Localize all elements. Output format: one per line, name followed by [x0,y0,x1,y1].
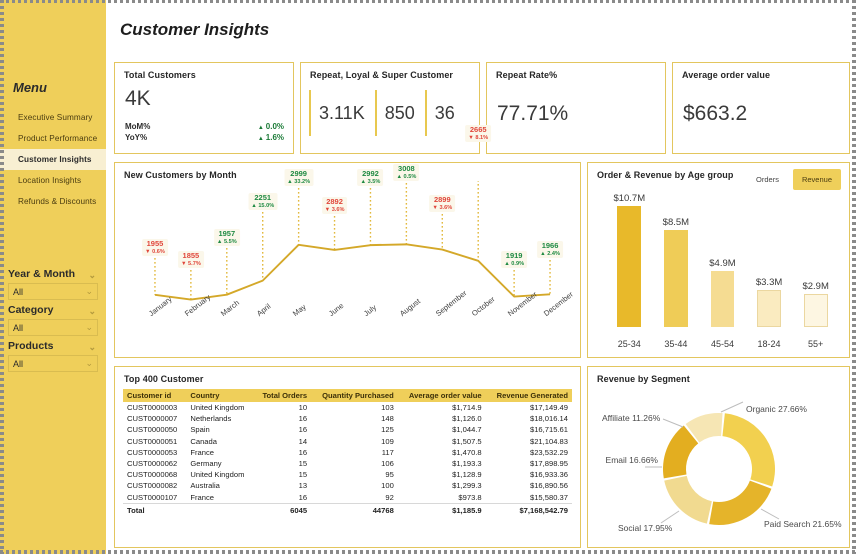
table-row[interactable]: CUST0000003United Kingdom10103$1,714.9$1… [123,402,572,413]
line-data-label: 1966▲ 2.4% [537,241,563,258]
kpi-loyal-cell: 850 [375,90,425,136]
filter-products-select[interactable]: All ⌄ [8,355,98,372]
table-cell: $1,126.0 [398,413,486,424]
line-data-label: 2665▼ 8.1% [465,125,491,142]
kpi-average-order-value: Average order value $663.2 [672,62,850,154]
line-data-label: 1955▼ 0.6% [142,239,168,256]
bar-value-label: $8.5M [663,217,689,228]
table-row[interactable]: CUST0000007Netherlands16148$1,126.0$18,0… [123,413,572,424]
kpi-repeat-rate: Repeat Rate% 77.71% [486,62,666,154]
bar-column[interactable]: $4.9M [703,193,743,327]
table-cell: 14 [254,436,311,447]
line-data-label: 3008▲ 0.5% [393,164,419,181]
kpi-yoy-delta: 1.6% [258,132,284,144]
chart-new-customers-by-month: New Customers by Month 1955▼ 0.6%1855▼ 5… [114,162,581,358]
line-label-pct: ▲ 2.4% [540,251,560,257]
kpi-repeat-value: 3.11K [319,103,365,124]
line-label-pct: ▼ 3.6% [432,205,452,211]
bar-rect [664,230,688,327]
table-column-header[interactable]: Revenue Generated [486,389,572,402]
line-label-value: 3008 [396,165,416,174]
kpi-total-customers-value: 4K [115,80,293,111]
line-label-pct: ▲ 3.5% [361,179,381,185]
customer-table: Customer idCountryTotal OrdersQuantity P… [123,389,572,516]
chevron-down-icon[interactable]: ⌄ [88,306,96,317]
kpi-total-customers: Total Customers 4K MoM% 0.0% YoY% 1.6% [114,62,294,154]
filter-year-month-value: All [13,287,23,297]
chart-order-revenue-by-age: Order & Revenue by Age group Orders Reve… [587,162,850,358]
bar-category-label: 55+ [796,339,836,349]
filter-year-month-select[interactable]: All ⌄ [8,283,98,300]
chart-revenue-segment-title: Revenue by Segment [588,367,849,384]
table-cell: Spain [186,424,254,435]
filter-category: Category ⌄ All ⌄ [0,304,106,336]
kpi-repeat-loyal-super-title: Repeat, Loyal & Super Customer [301,63,479,80]
table-cell: 16 [254,424,311,435]
kpi-mom-delta: 0.0% [258,121,284,133]
bar-column[interactable]: $8.5M [656,193,696,327]
kpi-repeat-loyal-super-values: 3.11K 850 36 [301,90,479,136]
bar-category-label: 18-24 [749,339,789,349]
line-label-value: 1957 [217,230,237,239]
table-cell: 15 [254,469,311,480]
table-cell: 117 [311,447,398,458]
bar-rect [617,206,641,327]
chevron-down-icon[interactable]: ⌄ [88,270,96,281]
table-cell: $15,580.37 [486,492,572,504]
table-cell: France [186,447,254,458]
bar-rect [804,294,828,327]
table-cell: CUST0000003 [123,402,186,413]
chart-legend-toggle: Orders Revenue [747,169,841,190]
kpi-mom-label: MoM% [125,121,150,133]
table-total-cell: Total [123,503,186,516]
table-cell: $1,507.5 [398,436,486,447]
chart-revenue-by-segment: Revenue by Segment Organic 27.66%Paid Se… [587,366,850,548]
table-cell: $16,933.36 [486,469,572,480]
donut-segment-label: Email 16.66% [588,455,658,466]
table-cell: 100 [311,480,398,491]
table-cell: 95 [311,469,398,480]
filter-products-label: Products ⌄ [8,340,98,352]
table-title: Top 400 Customer [115,367,580,384]
page-border-top [0,0,856,3]
filter-products-text: Products [8,340,54,352]
table-cell: $1,044.7 [398,424,486,435]
kpi-average-order-value-title: Average order value [673,63,849,80]
table-cell: CUST0000082 [123,480,186,491]
table-body: CUST0000003United Kingdom10103$1,714.9$1… [123,402,572,516]
filter-year-month-text: Year & Month [8,268,75,280]
kpi-super-cell: 36 [425,90,465,136]
table-cell: 109 [311,436,398,447]
sidebar-item-location-insights[interactable]: Location Insights [0,170,106,191]
table-cell: 148 [311,413,398,424]
line-label-value: 2665 [468,126,488,135]
bar-rect [711,271,735,327]
table-cell: France [186,492,254,504]
table-row[interactable]: CUST0000051Canada14109$1,507.5$21,104.83 [123,436,572,447]
table-cell: $1,128.9 [398,469,486,480]
page-border-bottom [0,550,856,554]
table-cell: 103 [311,402,398,413]
table-cell: Canada [186,436,254,447]
sidebar: Menu Executive Summary Product Performan… [0,0,106,554]
chevron-down-icon[interactable]: ⌄ [88,342,96,353]
table-cell: CUST0000053 [123,447,186,458]
table-total-row: Total604544768$1,185.9$7,168,542.79 [123,503,572,516]
line-label-value: 2892 [325,198,345,207]
table-row[interactable]: CUST0000062Germany15106$1,193.3$17,898.9… [123,458,572,469]
line-label-pct: ▲ 0.5% [396,174,416,180]
table-cell: CUST0000107 [123,492,186,504]
donut-segment-label: Social 17.95% [618,523,672,534]
table-top-400-customer: Top 400 Customer Customer idCountryTotal… [114,366,581,548]
legend-button-revenue[interactable]: Revenue [793,169,841,190]
chevron-down-icon: ⌄ [85,358,93,369]
chart-new-customers-title: New Customers by Month [115,163,580,180]
line-label-value: 1955 [145,240,165,249]
line-label-pct: ▲ 5.5% [217,239,237,245]
chevron-down-icon: ⌄ [85,322,93,333]
bar-chart-x-axis: 25-3435-4445-5418-2455+ [606,339,839,349]
table-cell: 16 [254,492,311,504]
table-row[interactable]: CUST0000068United Kingdom1595$1,128.9$16… [123,469,572,480]
kpi-average-order-value-value: $663.2 [673,80,849,126]
bar-column[interactable]: $10.7M [609,193,649,327]
line-label-pct: ▼ 0.6% [145,249,165,255]
table-cell: $973.8 [398,492,486,504]
line-data-label: 1957▲ 5.5% [214,229,240,246]
line-data-label: 2992▲ 3.5% [358,169,384,186]
table-header-row: Customer idCountryTotal OrdersQuantity P… [123,389,572,402]
donut-segment-label: Paid Search 21.65% [764,519,842,530]
line-data-label: 1919▲ 0.9% [501,251,527,268]
table-cell: CUST0000062 [123,458,186,469]
table-column-header[interactable]: Quantity Purchased [311,389,398,402]
kpi-repeat-loyal-super: Repeat, Loyal & Super Customer 3.11K 850… [300,62,480,154]
filter-year-month-label: Year & Month ⌄ [8,268,98,280]
line-label-value: 2992 [361,170,381,179]
line-label-pct: ▼ 5.7% [181,261,201,267]
donut-chart-plot: Organic 27.66%Paid Search 21.65%Social 1… [588,383,849,547]
line-label-value: 1919 [504,252,524,261]
table-cell: $21,104.83 [486,436,572,447]
table-cell: $1,193.3 [398,458,486,469]
bar-value-label: $4.9M [709,258,735,269]
filter-products: Products ⌄ All ⌄ [0,340,106,372]
table-scroll-area[interactable]: Customer idCountryTotal OrdersQuantity P… [123,389,572,543]
table-cell: 16 [254,413,311,424]
filter-products-value: All [13,359,23,369]
table-total-cell [186,503,254,516]
kpi-yoy-label: YoY% [125,132,147,144]
table-cell: $17,149.49 [486,402,572,413]
line-label-value: 1855 [181,252,201,261]
line-label-pct: ▲ 0.9% [504,261,524,267]
sidebar-item-customer-insights[interactable]: Customer Insights [0,149,106,170]
donut-segment-label: Organic 27.66% [746,404,807,415]
line-label-pct: ▲ 15.0% [251,203,274,209]
table-cell: $1,714.9 [398,402,486,413]
sidebar-item-product-performance[interactable]: Product Performance [0,128,106,149]
table-cell: CUST0000007 [123,413,186,424]
table-header: Customer idCountryTotal OrdersQuantity P… [123,389,572,402]
bar-value-label: $3.3M [756,277,782,288]
table-row[interactable]: CUST0000050Spain16125$1,044.7$16,715.61 [123,424,572,435]
bar-value-label: $2.9M [802,281,828,292]
table-cell: 106 [311,458,398,469]
table-cell: $18,016.14 [486,413,572,424]
table-row[interactable]: CUST0000107France1692$973.8$15,580.37 [123,492,572,504]
table-cell: Australia [186,480,254,491]
kpi-mom-row: MoM% 0.0% [125,121,284,133]
table-total-cell: $1,185.9 [398,503,486,516]
table-cell: CUST0000068 [123,469,186,480]
table-cell: $23,532.29 [486,447,572,458]
table-cell: $1,470.8 [398,447,486,458]
filter-category-value: All [13,323,23,333]
kpi-loyal-value: 850 [385,103,415,124]
line-data-label: 2251▲ 15.0% [248,193,277,210]
table-cell: United Kingdom [186,402,254,413]
table-cell: 13 [254,480,311,491]
table-cell: $16,715.61 [486,424,572,435]
table-column-header[interactable]: Country [186,389,254,402]
table-row[interactable]: CUST0000082Australia13100$1,299.3$16,890… [123,480,572,491]
bar-column[interactable]: $2.9M [796,193,836,327]
kpi-yoy-row: YoY% 1.6% [125,132,284,144]
page-title: Customer Insights [112,0,848,40]
filter-category-text: Category [8,304,54,316]
line-label-pct: ▲ 33.2% [287,179,310,185]
sidebar-item-refunds-discounts[interactable]: Refunds & Discounts [0,191,106,212]
kpi-total-customers-deltas: MoM% 0.0% YoY% 1.6% [125,121,284,144]
bar-value-label: $10.7M [613,193,645,204]
table-cell: $17,898.95 [486,458,572,469]
line-label-value: 2999 [287,170,310,179]
line-chart-x-axis: JanuaryFebruaryMarchAprilMayJuneJulyAugu… [115,307,580,351]
filter-category-label: Category ⌄ [8,304,98,316]
line-label-pct: ▼ 3.6% [325,207,345,213]
line-chart-plot: 1955▼ 0.6%1855▼ 5.7%1957▲ 5.5%2251▲ 15.0… [115,181,580,357]
filter-year-month: Year & Month ⌄ All ⌄ [0,268,106,300]
line-data-label: 2899▼ 3.6% [429,195,455,212]
main-content: Customer Insights Total Customers 4K MoM… [106,0,856,554]
table-cell: 16 [254,447,311,458]
table-cell: CUST0000051 [123,436,186,447]
kpi-total-customers-title: Total Customers [115,63,293,80]
bar-category-label: 45-54 [703,339,743,349]
bar-rect [757,290,781,327]
table-column-header[interactable]: Average order value [398,389,486,402]
kpi-repeat-rate-title: Repeat Rate% [487,63,665,80]
bar-category-label: 25-34 [609,339,649,349]
line-label-value: 1966 [540,242,560,251]
menu-title: Menu [0,80,106,95]
bar-chart-columns: $10.7M$8.5M$4.9M$3.3M$2.9M [606,193,839,327]
line-data-label: 2999▲ 33.2% [284,169,313,186]
filter-category-select[interactable]: All ⌄ [8,319,98,336]
table-total-cell: 44768 [311,503,398,516]
legend-button-orders[interactable]: Orders [747,169,788,190]
bar-column[interactable]: $3.3M [749,193,789,327]
table-cell: $16,890.56 [486,480,572,491]
table-cell: Netherlands [186,413,254,424]
line-data-label: 1855▼ 5.7% [178,251,204,268]
table-cell: 10 [254,402,311,413]
line-data-label: 2892▼ 3.6% [322,197,348,214]
table-cell: 125 [311,424,398,435]
chevron-down-icon: ⌄ [85,286,93,297]
kpi-repeat-cell: 3.11K [309,90,375,136]
dashboard-page: Menu Executive Summary Product Performan… [0,0,856,554]
table-cell: 92 [311,492,398,504]
line-label-value: 2899 [432,196,452,205]
line-label-value: 2251 [251,194,274,203]
table-cell: United Kingdom [186,469,254,480]
line-label-pct: ▼ 8.1% [468,135,488,141]
kpi-super-value: 36 [435,103,455,124]
table-cell: $1,299.3 [398,480,486,491]
table-column-header[interactable]: Total Orders [254,389,311,402]
bar-category-label: 35-44 [656,339,696,349]
sidebar-item-executive-summary[interactable]: Executive Summary [0,107,106,128]
table-cell: Germany [186,458,254,469]
table-total-cell: $7,168,542.79 [486,503,572,516]
table-total-cell: 6045 [254,503,311,516]
table-cell: CUST0000050 [123,424,186,435]
donut-segment-label: Affiliate 11.26% [602,413,660,424]
kpi-repeat-rate-value: 77.71% [487,80,665,126]
table-row[interactable]: CUST0000053France16117$1,470.8$23,532.29 [123,447,572,458]
table-cell: 15 [254,458,311,469]
table-column-header[interactable]: Customer id [123,389,186,402]
